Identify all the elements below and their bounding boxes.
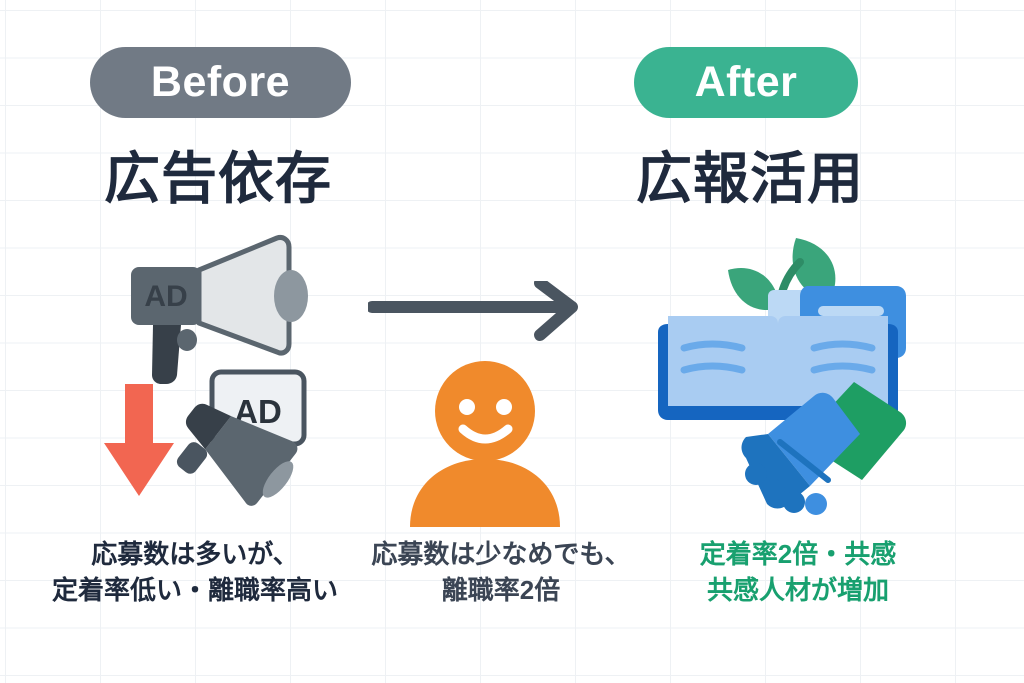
- infographic-canvas: Before 広告依存 AD AD: [0, 0, 1024, 683]
- smiling-person-icon: [410, 361, 560, 527]
- svg-text:AD: AD: [144, 280, 187, 313]
- caption-before: 応募数は多いが、 定着率低い・離職率高い: [20, 536, 370, 608]
- caption-after-line-2: 共感人材が増加: [648, 572, 948, 608]
- caption-before-line-1: 応募数は多いが、: [20, 536, 370, 572]
- caption-after: 定着率2倍・共感 共感人材が増加: [648, 536, 948, 608]
- caption-middle-line-2: 離職率2倍: [356, 572, 646, 608]
- down-arrow-icon: [104, 384, 174, 496]
- megaphone-icon: AD: [131, 237, 308, 384]
- heading-after: 広報活用: [636, 134, 864, 215]
- caption-middle: 応募数は少なめでも、 離職率2倍: [356, 536, 646, 608]
- illustration-book-plant-handshake: [650, 228, 915, 518]
- right-arrow-icon: [372, 283, 572, 335]
- badge-before: Before: [90, 47, 351, 118]
- heading-before: 広告依存: [104, 134, 332, 215]
- illustration-person-transition: [368, 281, 603, 531]
- caption-middle-line-1: 応募数は少なめでも、: [356, 536, 646, 572]
- illustration-megaphone-ad-decline: AD AD: [95, 228, 350, 513]
- caption-after-line-1: 定着率2倍・共感: [648, 536, 948, 572]
- caption-before-line-2: 定着率低い・離職率高い: [20, 572, 370, 608]
- badge-after: After: [634, 47, 858, 118]
